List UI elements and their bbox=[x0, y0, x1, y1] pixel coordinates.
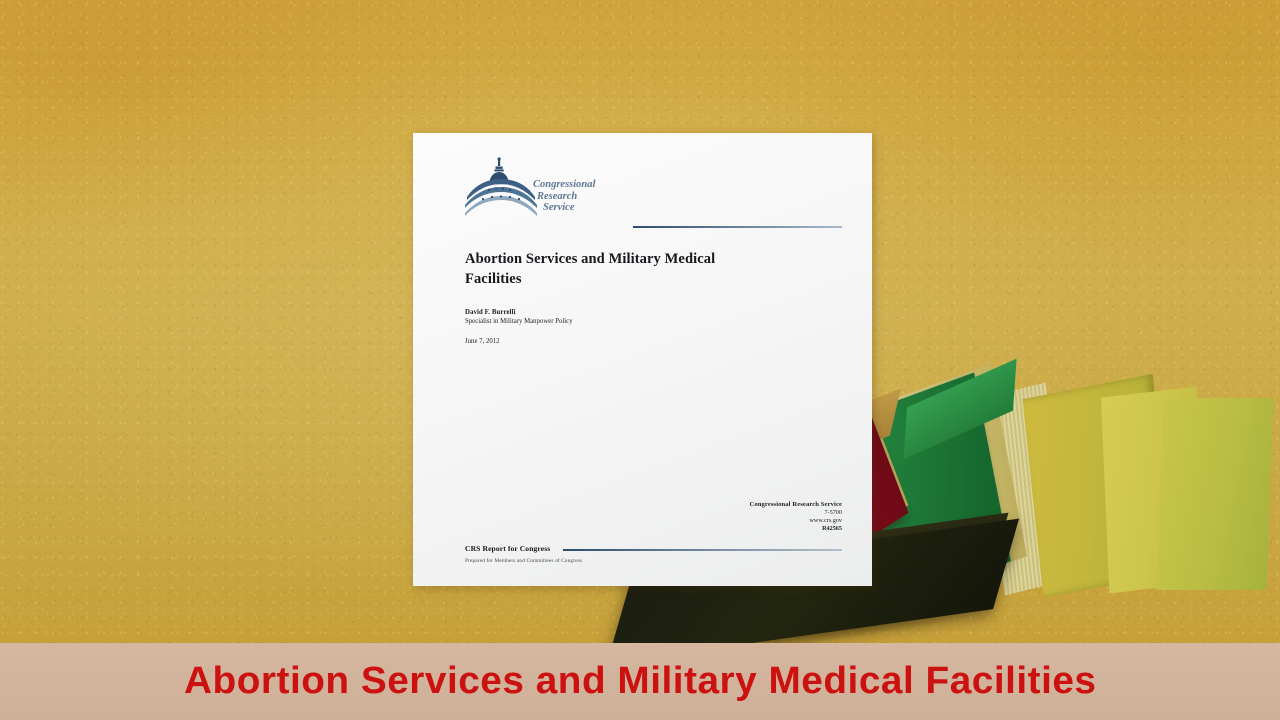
footer-organization: Congressional Research Service bbox=[465, 501, 842, 508]
crs-series-label: CRS Report for Congress bbox=[465, 544, 554, 553]
svg-text:Research: Research bbox=[536, 191, 577, 202]
capitol-dome-icon bbox=[465, 157, 537, 219]
caption-title: Abortion Services and Military Medical F… bbox=[184, 660, 1096, 703]
footer-website: www.crs.gov bbox=[465, 517, 842, 524]
svg-text:Congressional: Congressional bbox=[533, 179, 596, 190]
caption-banner: Abortion Services and Military Medical F… bbox=[0, 643, 1280, 720]
crs-series-rule bbox=[563, 549, 842, 551]
crs-logo-block: Congressional Research Service bbox=[465, 155, 842, 225]
cover-preview-stage: Congressional Research Service Abortion … bbox=[0, 0, 1280, 720]
report-date: June 7, 2012 bbox=[465, 338, 842, 345]
report-footer-contact: Congressional Research Service 7-5700 ww… bbox=[465, 501, 842, 532]
footer-report-number: R42565 bbox=[465, 525, 842, 532]
report-author-role: Specialist in Military Manpower Policy bbox=[465, 318, 842, 325]
crs-report-cover: Congressional Research Service Abortion … bbox=[413, 133, 872, 586]
crs-report-series-bar: CRS Report for Congress bbox=[465, 544, 842, 556]
svg-text:Service: Service bbox=[543, 202, 575, 213]
footer-phone: 7-5700 bbox=[465, 509, 842, 516]
book-yellowgreen-back-3 bbox=[1157, 398, 1274, 590]
report-author: David F. Burrelli bbox=[465, 309, 842, 316]
crs-wordmark-icon: Congressional Research Service bbox=[533, 177, 649, 213]
crs-prepared-for: Prepared for Members and Committees of C… bbox=[465, 558, 842, 564]
report-footer: Congressional Research Service 7-5700 ww… bbox=[465, 501, 842, 564]
report-title: Abortion Services and Military Medical F… bbox=[465, 249, 765, 289]
crs-logo-rule bbox=[633, 226, 842, 228]
